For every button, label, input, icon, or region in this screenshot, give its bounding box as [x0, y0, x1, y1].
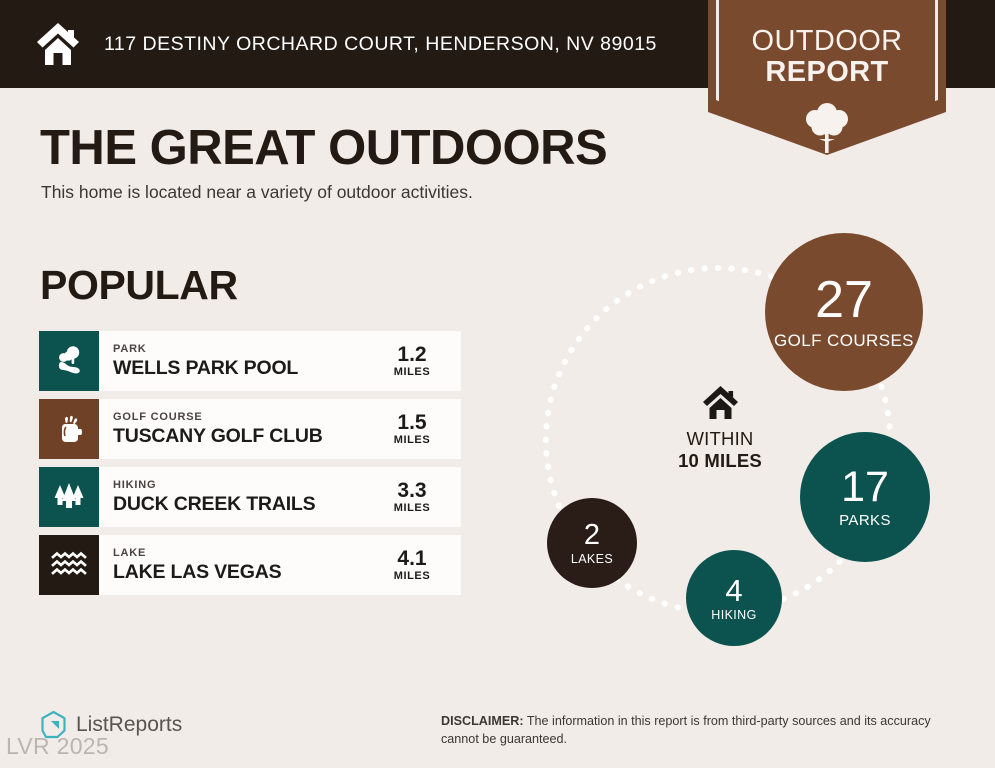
list-item[interactable]: HIKING DUCK CREEK TRAILS 3.3 MILES [39, 467, 461, 527]
house-icon [34, 21, 82, 67]
badge-line-1: OUTDOOR [708, 25, 946, 58]
badge-line-2: REPORT [708, 56, 946, 89]
list-item-name: DUCK CREEK TRAILS [113, 493, 375, 515]
house-icon [701, 385, 740, 421]
page-subtitle: This home is located near a variety of o… [41, 182, 473, 203]
list-item-category: GOLF COURSE [113, 411, 375, 425]
distance-unit: MILES [394, 434, 431, 446]
outdoor-report-page: 117 DESTINY ORCHARD COURT, HENDERSON, NV… [0, 0, 995, 768]
bubble-label: PARKS [839, 513, 891, 528]
distance-unit: MILES [394, 570, 431, 582]
bubble-label: HIKING [711, 609, 756, 622]
within-10-miles-bubble-chart: 27 GOLF COURSES 17 PARKS 4 HIKING 2 LAKE… [520, 225, 990, 655]
list-item[interactable]: PARK WELLS PARK POOL 1.2 MILES [39, 331, 461, 391]
pine-trees-icon [39, 467, 99, 527]
distance-unit: MILES [394, 366, 431, 378]
list-item[interactable]: LAKE LAKE LAS VEGAS 4.1 MILES [39, 535, 461, 595]
popular-heading: POPULAR [40, 262, 238, 309]
list-item[interactable]: GOLF COURSE TUSCANY GOLF CLUB 1.5 MILES [39, 399, 461, 459]
golf-bag-icon [39, 399, 99, 459]
distance-value: 1.2 [397, 344, 426, 366]
park-trees-icon [39, 331, 99, 391]
list-item-name: TUSCANY GOLF CLUB [113, 425, 375, 447]
diagram-center-label: WITHIN 10 MILES [655, 385, 785, 472]
outdoor-report-badge: OUTDOOR REPORT [708, 0, 946, 155]
list-item-text: LAKE LAKE LAS VEGAS [99, 535, 375, 595]
bubble-golf-courses[interactable]: 27 GOLF COURSES [765, 233, 923, 391]
list-item-distance: 1.2 MILES [375, 331, 461, 391]
distance-unit: MILES [394, 502, 431, 514]
bubble-value: 2 [584, 521, 600, 550]
list-item-text: GOLF COURSE TUSCANY GOLF CLUB [99, 399, 375, 459]
list-item-category: PARK [113, 343, 375, 357]
list-item-name: WELLS PARK POOL [113, 357, 375, 379]
disclaimer: DISCLAIMER: The information in this repo… [441, 712, 965, 749]
disclaimer-label: DISCLAIMER: [441, 714, 524, 728]
bubble-lakes[interactable]: 2 LAKES [547, 498, 637, 588]
bubble-value: 17 [841, 466, 889, 509]
list-item-category: HIKING [113, 479, 375, 493]
water-waves-icon [39, 535, 99, 595]
tree-icon [801, 100, 853, 154]
center-line-2: 10 MILES [655, 450, 785, 472]
distance-value: 3.3 [397, 480, 426, 502]
bubble-value: 27 [815, 274, 873, 326]
list-item-distance: 1.5 MILES [375, 399, 461, 459]
bubble-label: LAKES [571, 553, 613, 566]
bubble-value: 4 [725, 575, 742, 606]
list-item-distance: 4.1 MILES [375, 535, 461, 595]
center-line-1: WITHIN [655, 428, 785, 450]
list-item-text: HIKING DUCK CREEK TRAILS [99, 467, 375, 527]
bubble-hiking[interactable]: 4 HIKING [686, 550, 782, 646]
list-item-name: LAKE LAS VEGAS [113, 561, 375, 583]
distance-value: 4.1 [397, 548, 426, 570]
property-address: 117 DESTINY ORCHARD COURT, HENDERSON, NV… [104, 33, 657, 56]
bubble-label: GOLF COURSES [774, 331, 914, 350]
distance-value: 1.5 [397, 412, 426, 434]
list-item-category: LAKE [113, 547, 375, 561]
bubble-parks[interactable]: 17 PARKS [800, 432, 930, 562]
popular-list: PARK WELLS PARK POOL 1.2 MILES [39, 331, 461, 603]
list-item-distance: 3.3 MILES [375, 467, 461, 527]
watermark: LVR 2025 [6, 733, 109, 760]
page-title: THE GREAT OUTDOORS [40, 120, 607, 176]
list-item-text: PARK WELLS PARK POOL [99, 331, 375, 391]
